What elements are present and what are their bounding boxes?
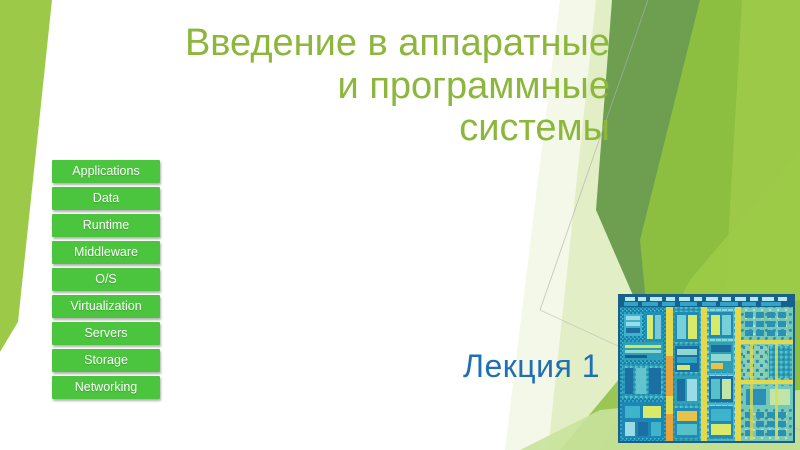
stack-item-middleware[interactable]: Middleware bbox=[52, 241, 160, 264]
subtitle: Лекция 1 bbox=[300, 348, 600, 385]
stack-item-label: O/S bbox=[95, 273, 117, 286]
subtitle-text: Лекция 1 bbox=[463, 348, 600, 384]
stack-item-virtualization[interactable]: Virtualization bbox=[52, 295, 160, 318]
stack-item-label: Networking bbox=[75, 381, 138, 394]
stack-item-label: Runtime bbox=[83, 219, 130, 232]
stack-item-label: Middleware bbox=[74, 246, 138, 259]
stack-item-storage[interactable]: Storage bbox=[52, 349, 160, 372]
bg-shape-left-wedge bbox=[0, 0, 52, 352]
stack-item-networking[interactable]: Networking bbox=[52, 376, 160, 399]
title-line-3: системы bbox=[150, 107, 610, 150]
slide-canvas: Введение в аппаратные и программные сист… bbox=[0, 0, 800, 450]
stack-item-os[interactable]: O/S bbox=[52, 268, 160, 291]
stack-item-servers[interactable]: Servers bbox=[52, 322, 160, 345]
stack-item-label: Data bbox=[93, 192, 119, 205]
stack-item-label: Virtualization bbox=[70, 300, 141, 313]
cpu-die-photo bbox=[618, 294, 795, 443]
page-title: Введение в аппаратные и программные сист… bbox=[150, 22, 610, 150]
cpu-die-image bbox=[620, 296, 793, 441]
stack-item-label: Storage bbox=[84, 354, 128, 367]
stack-item-runtime[interactable]: Runtime bbox=[52, 214, 160, 237]
bg-shape-left-pale bbox=[0, 322, 40, 450]
stack-item-label: Applications bbox=[72, 165, 139, 178]
stack-item-data[interactable]: Data bbox=[52, 187, 160, 210]
stack-item-applications[interactable]: Applications bbox=[52, 160, 160, 183]
service-layer-stack: Applications Data Runtime Middleware O/S… bbox=[52, 160, 160, 399]
title-line-1: Введение в аппаратные bbox=[150, 22, 610, 65]
title-line-2: и программные bbox=[150, 65, 610, 108]
stack-item-label: Servers bbox=[84, 327, 127, 340]
